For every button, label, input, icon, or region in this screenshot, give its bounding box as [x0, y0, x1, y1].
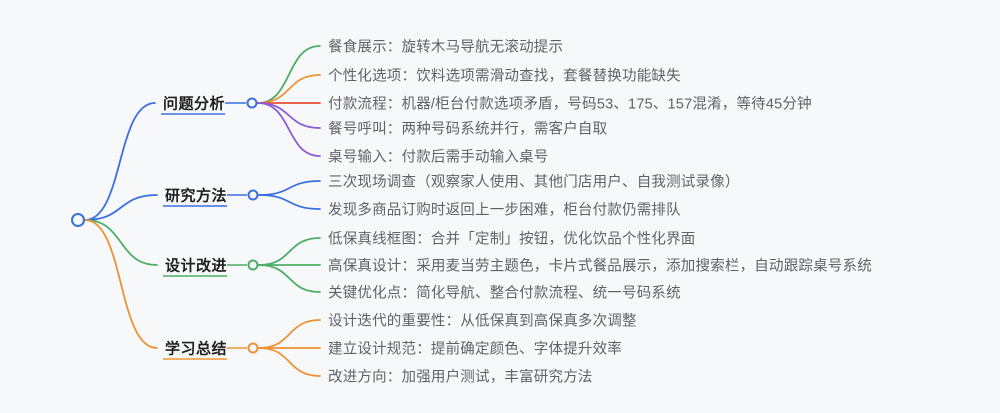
root-node-dot[interactable] [71, 213, 85, 227]
branch-node-1[interactable]: 问题分析 [163, 93, 225, 114]
leaf-node-3-2[interactable]: 高保真设计：采用麦当劳主题色，卡片式餐品展示，添加搜索栏，自动跟踪桌号系统 [328, 255, 872, 276]
branch-node-dot-4[interactable] [248, 343, 259, 354]
leaf-node-2-2[interactable]: 发现多商品订购时返回上一步困难，柜台付款仍需排队 [328, 199, 681, 220]
leaf-node-1-2[interactable]: 个性化选项：饮料选项需滑动查找，套餐替换功能缺失 [328, 65, 681, 86]
leaf-node-4-1[interactable]: 设计迭代的重要性：从低保真到高保真多次调整 [328, 310, 637, 331]
leaf-node-4-3[interactable]: 改进方向：加强用户测试，丰富研究方法 [328, 366, 593, 387]
leaf-node-1-5[interactable]: 桌号输入：付款后需手动输入桌号 [328, 146, 549, 167]
leaf-node-1-3[interactable]: 付款流程：机器/柜台付款选项矛盾，号码53、175、157混淆，等待45分钟 [328, 93, 812, 114]
branch-node-dot-2[interactable] [248, 190, 259, 201]
mindmap-canvas: 问题分析餐食展示：旋转木马导航无滚动提示个性化选项：饮料选项需滑动查找，套餐替换… [0, 0, 1000, 413]
branch-node-2[interactable]: 研究方法 [165, 185, 227, 206]
leaf-node-2-1[interactable]: 三次现场调查（观察家人使用、其他门店用户、自我测试录像） [328, 171, 740, 192]
leaf-node-1-4[interactable]: 餐号呼叫：两种号码系统并行，需客户自取 [328, 118, 607, 139]
branch-node-3[interactable]: 设计改进 [165, 255, 227, 276]
leaf-node-4-2[interactable]: 建立设计规范：提前确定颜色、字体提升效率 [328, 338, 622, 359]
branch-node-4[interactable]: 学习总结 [165, 338, 227, 359]
branch-node-dot-1[interactable] [247, 98, 258, 109]
leaf-node-3-1[interactable]: 低保真线框图：合并「定制」按钮，优化饮品个性化界面 [328, 228, 696, 249]
branch-node-dot-3[interactable] [248, 260, 259, 271]
leaf-node-3-3[interactable]: 关键优化点：简化导航、整合付款流程、统一号码系统 [328, 282, 681, 303]
leaf-node-1-1[interactable]: 餐食展示：旋转木马导航无滚动提示 [328, 36, 563, 57]
